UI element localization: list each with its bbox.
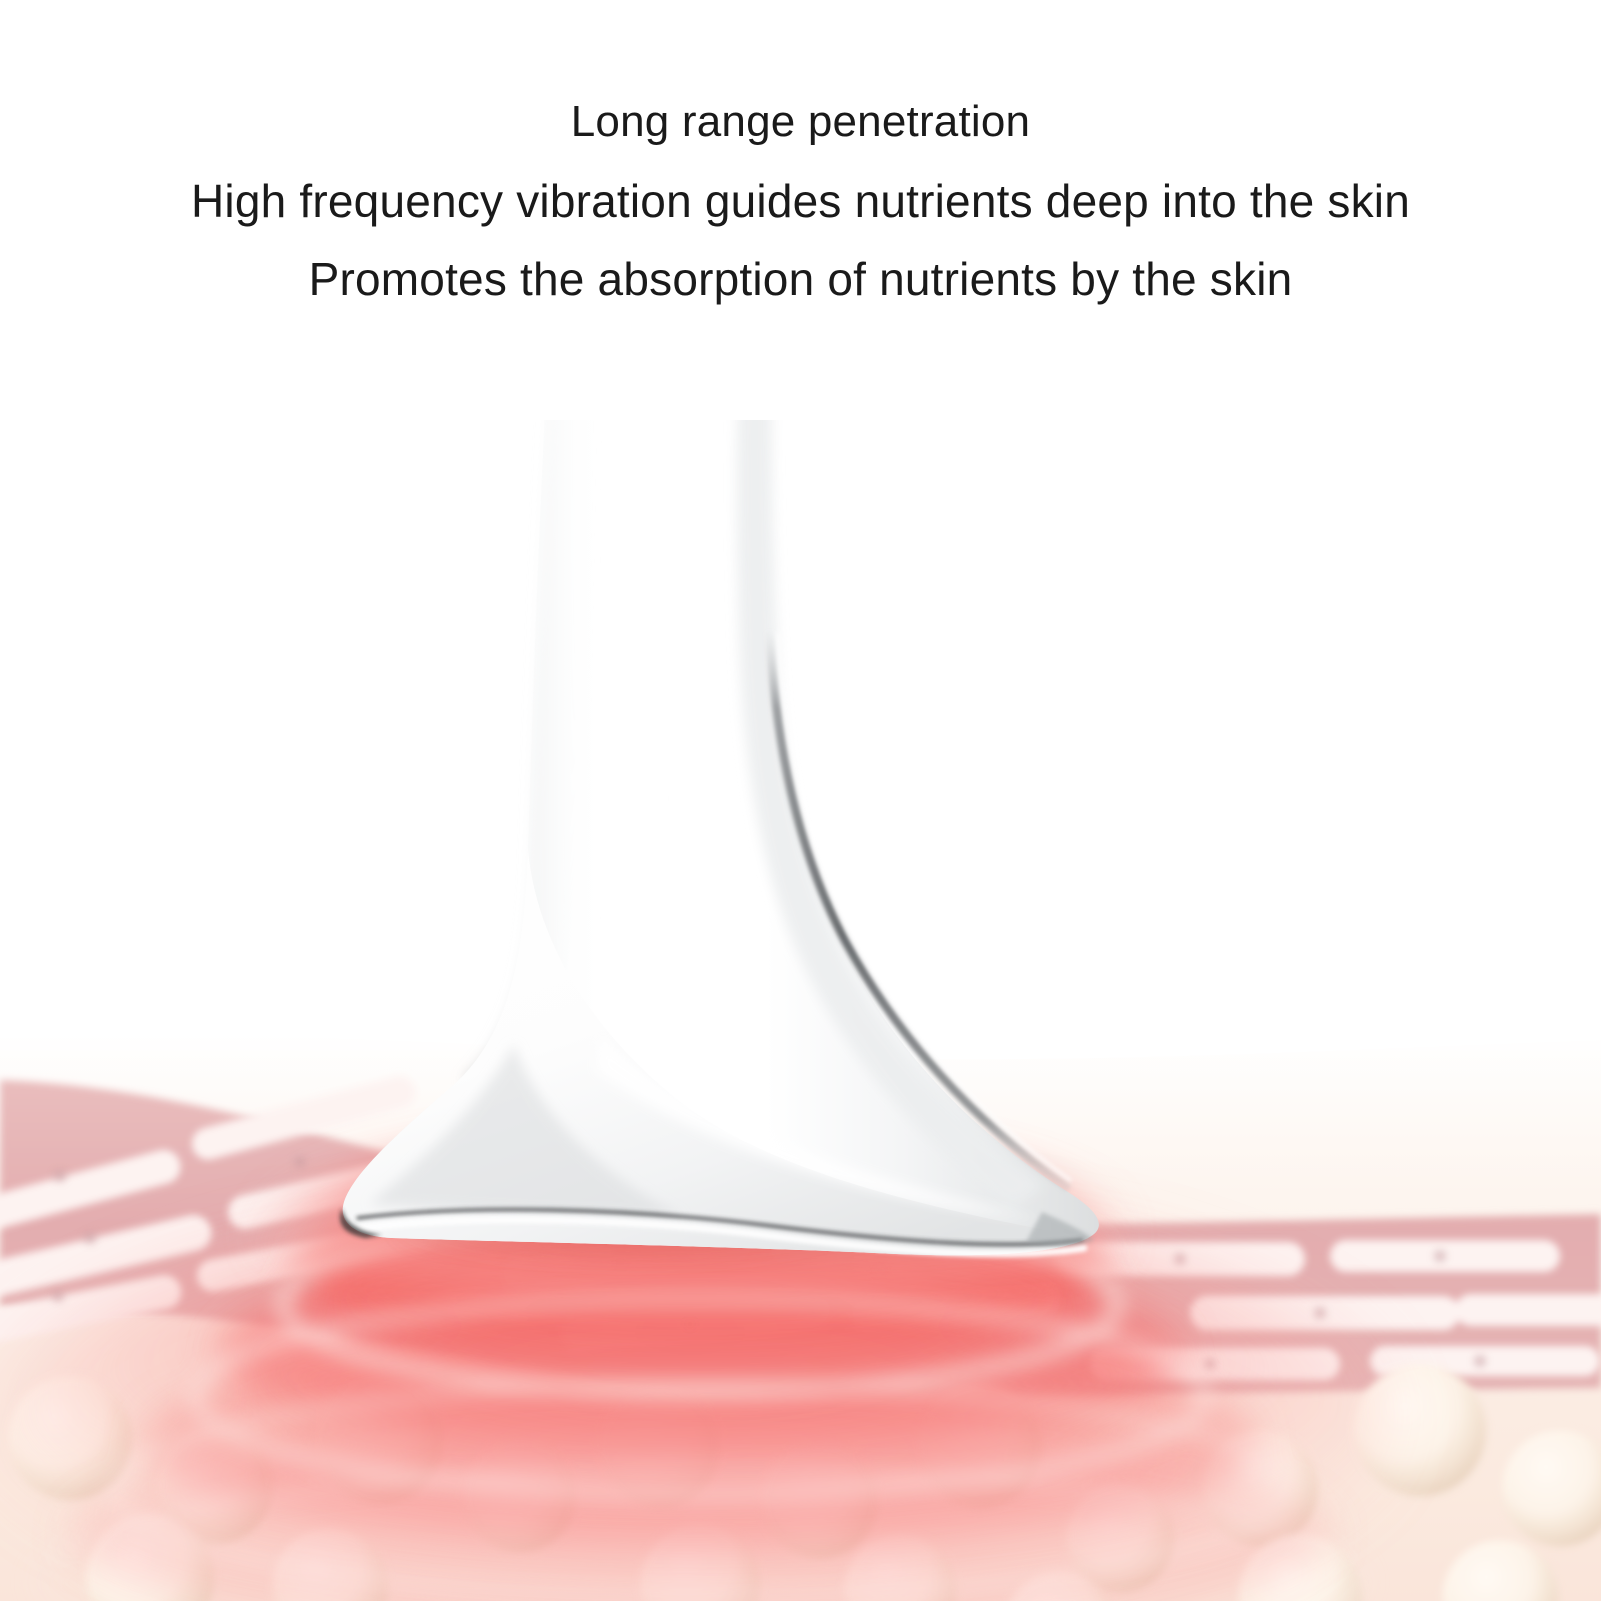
fat-cell (918, 1384, 1042, 1508)
product-device (300, 420, 1200, 1320)
product-feature-image: Long range penetration High frequency vi… (0, 0, 1601, 1601)
fat-cell (600, 1388, 720, 1508)
fat-cell (464, 1440, 576, 1552)
fat-cell (762, 1442, 878, 1558)
headline-line-3: Promotes the absorption of nutrients by … (0, 252, 1601, 306)
fat-cell (1202, 1430, 1318, 1546)
fat-cell (8, 1376, 132, 1500)
headline-line-1: Long range penetration (0, 96, 1601, 148)
fat-cell (316, 1376, 444, 1504)
device-svg (300, 420, 1200, 1320)
fat-cell (1066, 1484, 1174, 1592)
headline-line-2: High frequency vibration guides nutrient… (0, 174, 1601, 228)
fat-cell (1354, 1364, 1486, 1496)
